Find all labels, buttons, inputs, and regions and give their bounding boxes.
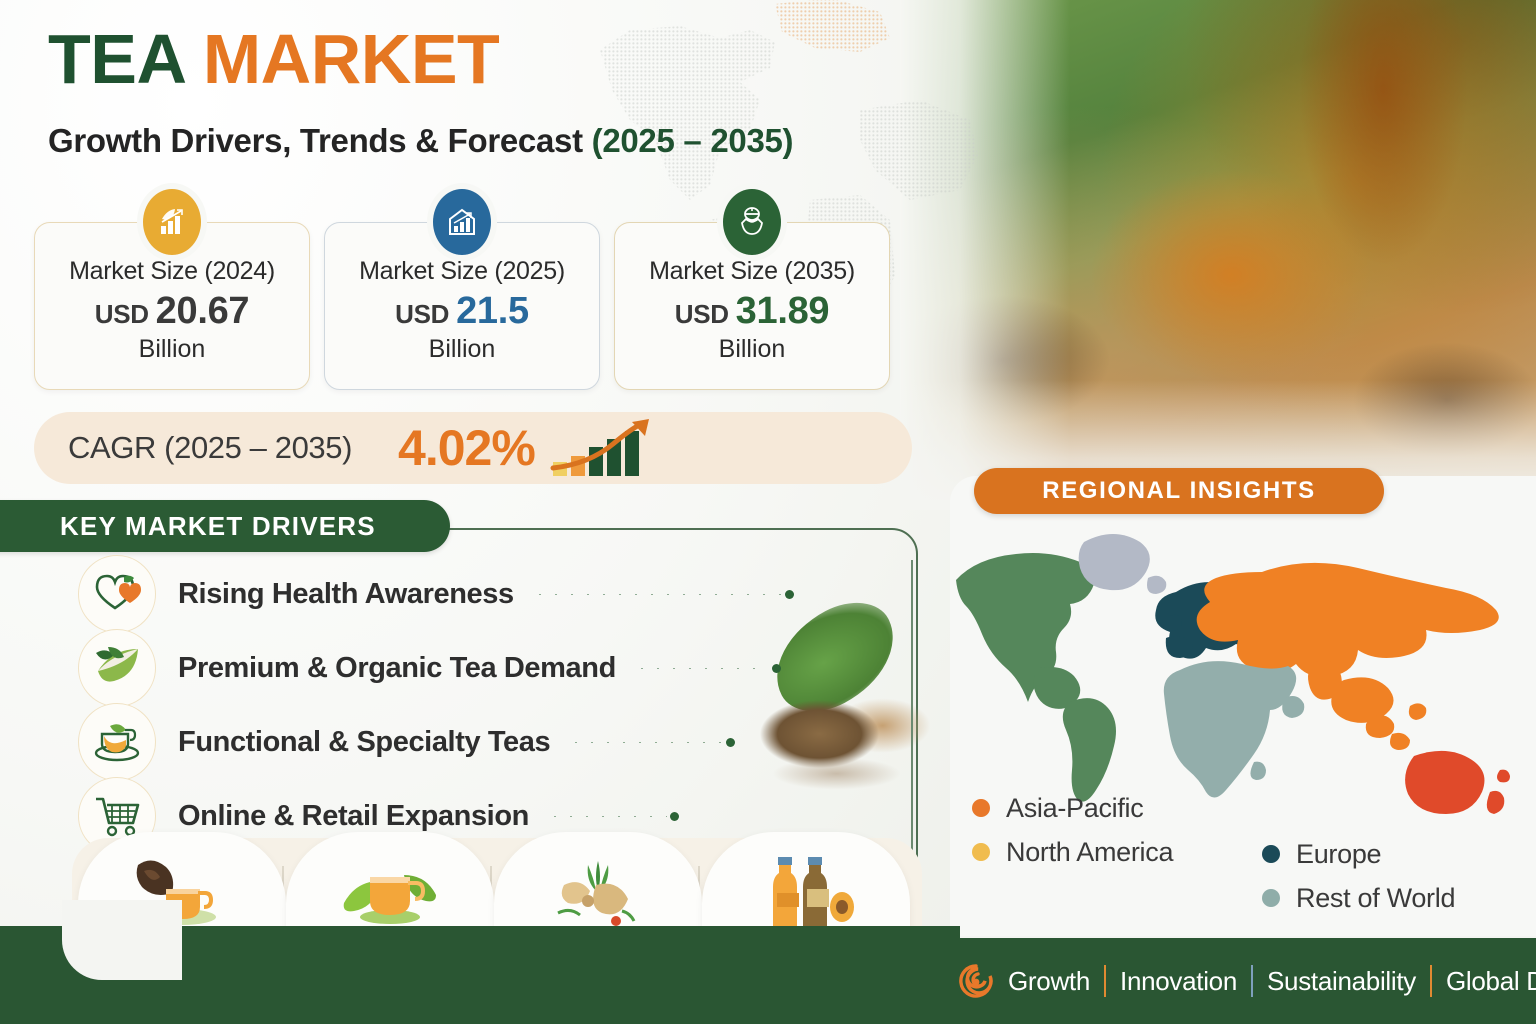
driver-connector-dots: [568, 741, 723, 743]
page-subtitle: Growth Drivers, Trends & Forecast (2025 …: [48, 122, 793, 160]
driver-row-functional[interactable]: Functional & Specialty Teas: [78, 704, 735, 780]
regional-heading-banner: REGIONAL INSIGHTS: [974, 468, 1384, 514]
legend-item-north-america[interactable]: North America: [972, 830, 1173, 874]
driver-label: Functional & Specialty Teas: [178, 726, 550, 759]
stat-number: 21.5: [456, 290, 529, 332]
footer-item-global-demand: Global Demand: [1432, 966, 1536, 997]
stat-currency: USD: [675, 299, 729, 329]
stat-card-2025: Market Size (2025) USD 21.5 Billion: [324, 222, 600, 390]
driver-connector-end-dot: [772, 664, 781, 673]
drivers-heading-label: KEY MARKET DRIVERS: [60, 511, 376, 542]
stat-card-2035: Market Size (2035) USD 31.89 Billion: [614, 222, 890, 390]
factory-chart-icon: [433, 189, 491, 255]
driver-connector-dots: [634, 667, 769, 669]
title-part-two: MARKET: [203, 20, 499, 98]
legend-item-rest-of-world[interactable]: Rest of World: [1262, 876, 1455, 920]
driver-connector-dots: [547, 815, 667, 817]
driver-label: Premium & Organic Tea Demand: [178, 652, 616, 685]
regional-heading-label: REGIONAL INSIGHTS: [1042, 477, 1315, 505]
stat-value: USD 31.89: [675, 290, 830, 333]
legend-item-europe[interactable]: Europe: [1262, 832, 1455, 876]
stat-unit: Billion: [719, 335, 786, 364]
stat-card-2024: Market Size (2024) USD 20.67 Billion: [34, 222, 310, 390]
stat-label: Market Size (2035): [649, 257, 855, 286]
bar-chart-leaf-icon: [143, 189, 201, 255]
subtitle-main: Growth Drivers, Trends & Forecast: [48, 122, 583, 159]
stat-number: 31.89: [736, 290, 830, 332]
footer-item-innovation: Innovation: [1106, 966, 1251, 997]
rtd-bottles-icon: [752, 855, 860, 933]
legend-dot-icon: [972, 799, 990, 817]
legend-label: Asia-Pacific: [1006, 793, 1143, 824]
legend-column-right: Europe Rest of World: [1262, 832, 1455, 920]
stat-value: USD 20.67: [95, 290, 250, 333]
footer-left-notch: [62, 900, 182, 980]
growth-bar-arrow-icon: [549, 418, 659, 478]
stat-unit: Billion: [139, 335, 206, 364]
health-heart-icon: [78, 555, 156, 633]
cagr-value: 4.02%: [398, 419, 535, 477]
stat-number: 20.67: [156, 290, 250, 332]
herbal-roots-icon: [544, 855, 652, 933]
tea-leaf-icon: [78, 629, 156, 707]
legend-label: Europe: [1296, 839, 1381, 870]
market-size-cards: Market Size (2024) USD 20.67 Billion Mar…: [34, 222, 890, 390]
title-part-one: TEA: [48, 20, 184, 98]
stat-unit: Billion: [429, 335, 496, 364]
infographic-page: TEA MARKET Growth Drivers, Trends & Fore…: [0, 0, 1536, 1024]
legend-dot-icon: [1262, 889, 1280, 907]
driver-label: Rising Health Awareness: [178, 578, 514, 611]
cagr-label: CAGR (2025 – 2035): [68, 430, 352, 466]
driver-row-premium[interactable]: Premium & Organic Tea Demand: [78, 630, 781, 706]
stat-label: Market Size (2025): [359, 257, 565, 286]
legend-column-left: Asia-Pacific North America: [972, 786, 1173, 874]
legend-dot-icon: [972, 843, 990, 861]
legend-label: Rest of World: [1296, 883, 1455, 914]
legend-dot-icon: [1262, 845, 1280, 863]
page-title: TEA MARKET: [48, 24, 499, 94]
specialty-cup-icon: [78, 703, 156, 781]
driver-connector-end-dot: [726, 738, 735, 747]
stat-label: Market Size (2024): [69, 257, 275, 286]
stat-currency: USD: [95, 299, 149, 329]
driver-row-health[interactable]: Rising Health Awareness: [78, 556, 794, 632]
footer-tagline: Growth Innovation Sustainability Global …: [958, 938, 1536, 1024]
stat-currency: USD: [395, 299, 449, 329]
driver-connector-dots: [532, 593, 782, 595]
legend-item-asia-pacific[interactable]: Asia-Pacific: [972, 786, 1173, 830]
driver-connector-end-dot: [670, 812, 679, 821]
driver-connector-end-dot: [785, 590, 794, 599]
subtitle-years: (2025 – 2035): [592, 122, 794, 159]
stat-value: USD 21.5: [395, 290, 529, 333]
footer-item-growth: Growth: [994, 966, 1104, 997]
driver-label: Online & Retail Expansion: [178, 800, 529, 833]
legend-label: North America: [1006, 837, 1173, 868]
tea-picker-icon: [723, 189, 781, 255]
footer-item-sustainability: Sustainability: [1253, 966, 1430, 997]
green-tea-cup-icon: [336, 855, 444, 933]
decorative-tea-leaves-scoop: [760, 680, 930, 800]
growth-spiral-logo: [958, 963, 994, 999]
cagr-band: CAGR (2025 – 2035) 4.02%: [34, 412, 912, 484]
drivers-heading-banner: KEY MARKET DRIVERS: [0, 500, 450, 552]
